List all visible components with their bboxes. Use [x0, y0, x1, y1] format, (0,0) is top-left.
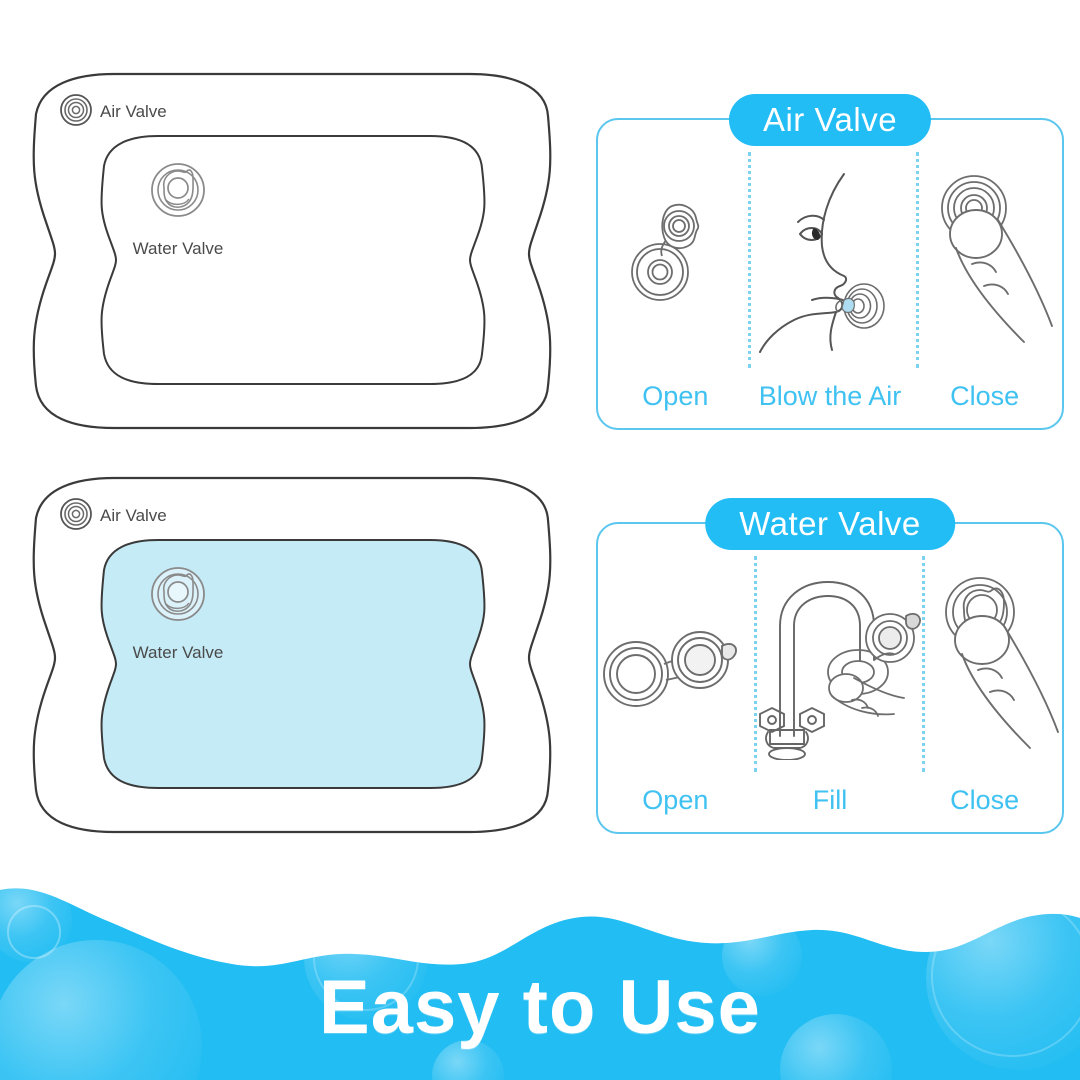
panel-steps-art	[598, 146, 1062, 370]
mat-filled-illustration: Air Valve Water Valve	[18, 466, 564, 844]
step-art-blow	[748, 146, 916, 370]
faucet-filling-icon	[754, 564, 922, 760]
panel-frame: Air Valve	[596, 118, 1064, 430]
mat-empty-illustration: Air Valve Water Valve	[18, 62, 564, 440]
panel-title-water-valve: Water Valve	[705, 498, 955, 550]
valve-open-horizontal-icon	[598, 564, 754, 760]
face-blowing-icon	[748, 160, 916, 356]
instruction-panel-water-valve: Water Valve	[596, 522, 1064, 834]
mat-water-valve-label: Water Valve	[133, 643, 224, 662]
mat-diagram-empty: Air Valve Water Valve	[18, 62, 564, 440]
step-art-close	[922, 550, 1072, 774]
step-label-open: Open	[598, 381, 753, 412]
panel-step-labels: Open Blow the Air Close	[598, 381, 1062, 412]
water-valve-icon	[152, 568, 204, 620]
step-art-close	[916, 146, 1066, 370]
step-label-close: Close	[907, 785, 1062, 816]
step-label-close: Close	[907, 381, 1062, 412]
air-valve-icon	[61, 95, 91, 125]
bottom-wave-banner: Easy to Use	[0, 860, 1080, 1080]
step-label-blow: Blow the Air	[753, 381, 908, 412]
step-art-open	[598, 146, 748, 370]
step-label-fill: Fill	[753, 785, 908, 816]
water-valve-icon	[152, 164, 204, 216]
mat-diagram-filled: Air Valve Water Valve	[18, 466, 564, 844]
instruction-panel-air-valve: Air Valve	[596, 118, 1064, 430]
mat-air-valve-label: Air Valve	[100, 102, 167, 121]
valve-nozzle-highlight	[842, 298, 854, 312]
panel-title-air-valve: Air Valve	[729, 94, 931, 146]
valve-open-vertical-icon	[598, 160, 748, 356]
panel-steps-art	[598, 550, 1062, 774]
banner-caption: Easy to Use	[0, 964, 1080, 1051]
step-art-open	[598, 550, 754, 774]
finger-press-valve-icon	[922, 564, 1072, 760]
panel-frame: Water Valve	[596, 522, 1064, 834]
mat-air-valve-label: Air Valve	[100, 506, 167, 525]
mat-water-valve-label: Water Valve	[133, 239, 224, 258]
step-art-fill	[754, 550, 922, 774]
step-label-open: Open	[598, 785, 753, 816]
air-valve-icon	[61, 499, 91, 529]
finger-press-valve-icon	[916, 160, 1066, 356]
panel-step-labels: Open Fill Close	[598, 785, 1062, 816]
instruction-sheet: Air Valve Water Valve Air Valve	[0, 0, 1080, 1080]
